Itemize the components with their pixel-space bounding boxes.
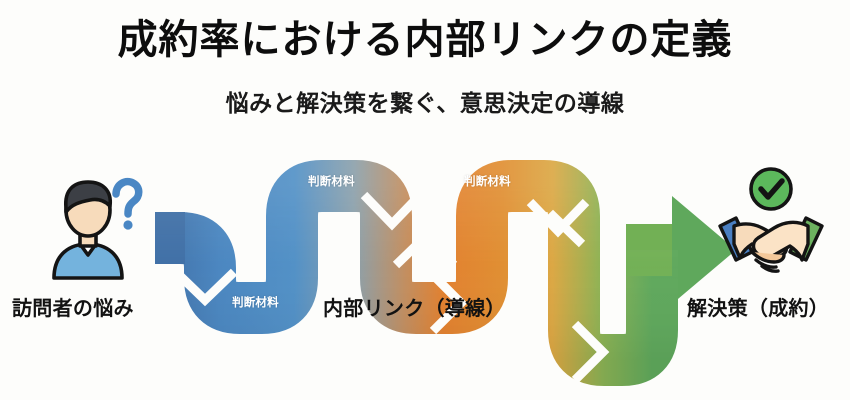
stage-label-visitor: 訪問者の悩み: [12, 292, 134, 321]
ribbon-step-label-1: 判断材料: [308, 173, 355, 189]
stage-label-solution: 解決策（成約）: [687, 292, 829, 321]
handshake-check-icon: [712, 166, 830, 282]
stage-label-internal-link: 内部リンク（導線）: [323, 292, 506, 321]
slide-canvas: 成約率における内部リンクの定義 悩みと解決策を繋ぐ、意思決定の導線: [0, 0, 850, 400]
person-question-icon: [40, 168, 152, 280]
ribbon-step-label-3: 判断材料: [232, 294, 279, 310]
ribbon-step-label-2: 判断材料: [464, 173, 511, 189]
